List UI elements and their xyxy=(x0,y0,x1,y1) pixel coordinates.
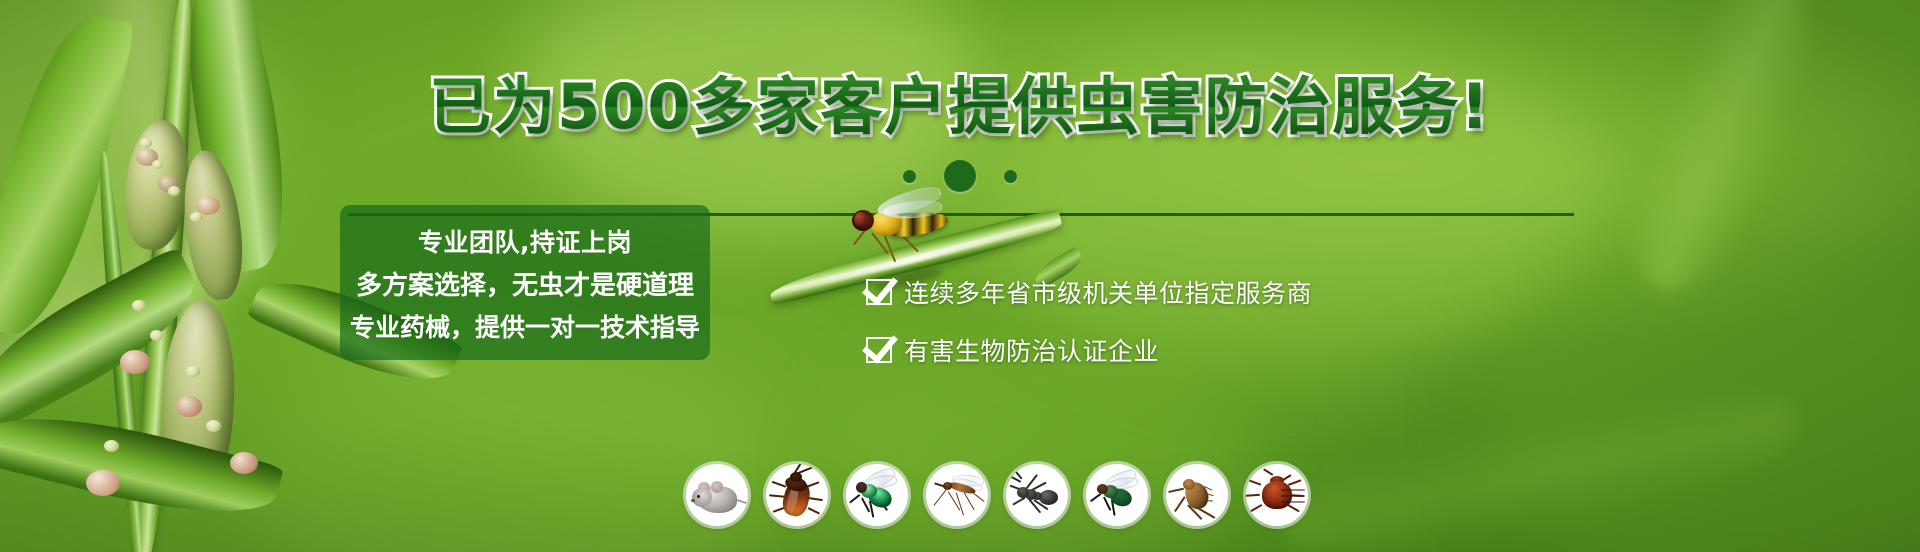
insect-leg xyxy=(1250,504,1262,512)
decor-dot-small-right xyxy=(1004,170,1017,183)
decor-dot-large xyxy=(944,160,976,192)
seed-grain xyxy=(206,420,221,432)
selling-point-line-2: 多方案选择，无虫才是硬道理 xyxy=(356,265,694,302)
insect-leg xyxy=(963,492,974,510)
credential-label: 连续多年省市级机关单位指定服务商 xyxy=(904,274,1312,310)
insect-leg xyxy=(853,228,867,245)
seed-grain xyxy=(132,300,146,311)
mouse-icon[interactable] xyxy=(686,464,748,526)
insect-leg xyxy=(1288,479,1302,485)
credential-label: 有害生物防治认证企业 xyxy=(904,332,1159,368)
housefly-icon[interactable] xyxy=(1086,464,1148,526)
insect-head xyxy=(1183,479,1195,490)
insect-leg xyxy=(1168,488,1184,493)
seed-grain xyxy=(190,212,203,222)
seed-bract xyxy=(176,396,202,417)
insect-head xyxy=(856,482,867,493)
seed-bract xyxy=(86,470,120,496)
flea-icon[interactable] xyxy=(1166,464,1228,526)
mosquito-icon[interactable] xyxy=(926,464,988,526)
green-fly-icon[interactable] xyxy=(846,464,908,526)
checkbox-checked-icon xyxy=(866,337,892,363)
insect-segment xyxy=(1281,501,1305,503)
bedbug-icon[interactable] xyxy=(1246,464,1308,526)
animal-eye xyxy=(697,495,700,498)
cockroach-icon[interactable] xyxy=(766,464,828,526)
animal-head xyxy=(692,488,712,507)
pest-icon-row xyxy=(686,464,1308,526)
insect-abdomen xyxy=(1262,481,1292,509)
promo-banner: 已为500多家客户提供虫害防治服务! 已为500多家客户提供虫害防治服务! 专业… xyxy=(0,0,1920,552)
animal-nose xyxy=(691,499,695,502)
selling-point-line-3: 专业药械，提供一对一技术指导 xyxy=(350,308,700,344)
list-item: 连续多年省市级机关单位指定服务商 xyxy=(866,274,1312,310)
insect-leg xyxy=(1288,504,1300,512)
list-item: 有害生物防治认证企业 xyxy=(866,332,1312,368)
insect-leg xyxy=(849,494,860,503)
insect-leg xyxy=(1174,496,1185,512)
insect-leg xyxy=(933,489,946,506)
insect-segment xyxy=(1281,495,1305,497)
insect-segment xyxy=(1281,489,1305,491)
checkbox-checked-icon xyxy=(866,279,892,305)
insect-leg xyxy=(1248,479,1262,485)
animal-ear xyxy=(711,481,723,493)
insect-leg xyxy=(808,497,823,501)
insect-head xyxy=(790,472,802,482)
decor-dot-row xyxy=(0,160,1920,192)
seed-bract xyxy=(120,350,150,374)
seed-grain xyxy=(186,366,200,377)
insect-eye xyxy=(854,212,867,227)
seed-grain xyxy=(140,138,152,148)
insect-leg xyxy=(808,507,820,514)
insect-head xyxy=(1097,484,1108,494)
hoverfly-icon xyxy=(848,198,968,272)
insect-head xyxy=(1017,487,1029,498)
decor-dot-small-left xyxy=(903,170,916,183)
seed-bract xyxy=(230,452,258,474)
seed-grain xyxy=(104,440,119,452)
selling-points-panel: 专业团队,持证上岗 多方案选择，无虫才是硬道理 专业药械，提供一对一技术指导 xyxy=(340,205,710,360)
ant-icon[interactable] xyxy=(1006,464,1068,526)
insect-antenna xyxy=(1263,468,1273,475)
page-title-stroke: 已为500多家客户提供虫害防治服务! xyxy=(0,76,1920,138)
insect-leg xyxy=(1090,493,1102,502)
insect-leg xyxy=(1246,494,1260,497)
insect-leg xyxy=(1012,497,1025,505)
selling-point-line-1: 专业团队,持证上岗 xyxy=(418,223,632,259)
credential-list: 连续多年省市级机关单位指定服务商 有害生物防治认证企业 xyxy=(866,274,1312,368)
insect-gaster xyxy=(1039,490,1058,505)
seed-grain xyxy=(150,330,163,341)
